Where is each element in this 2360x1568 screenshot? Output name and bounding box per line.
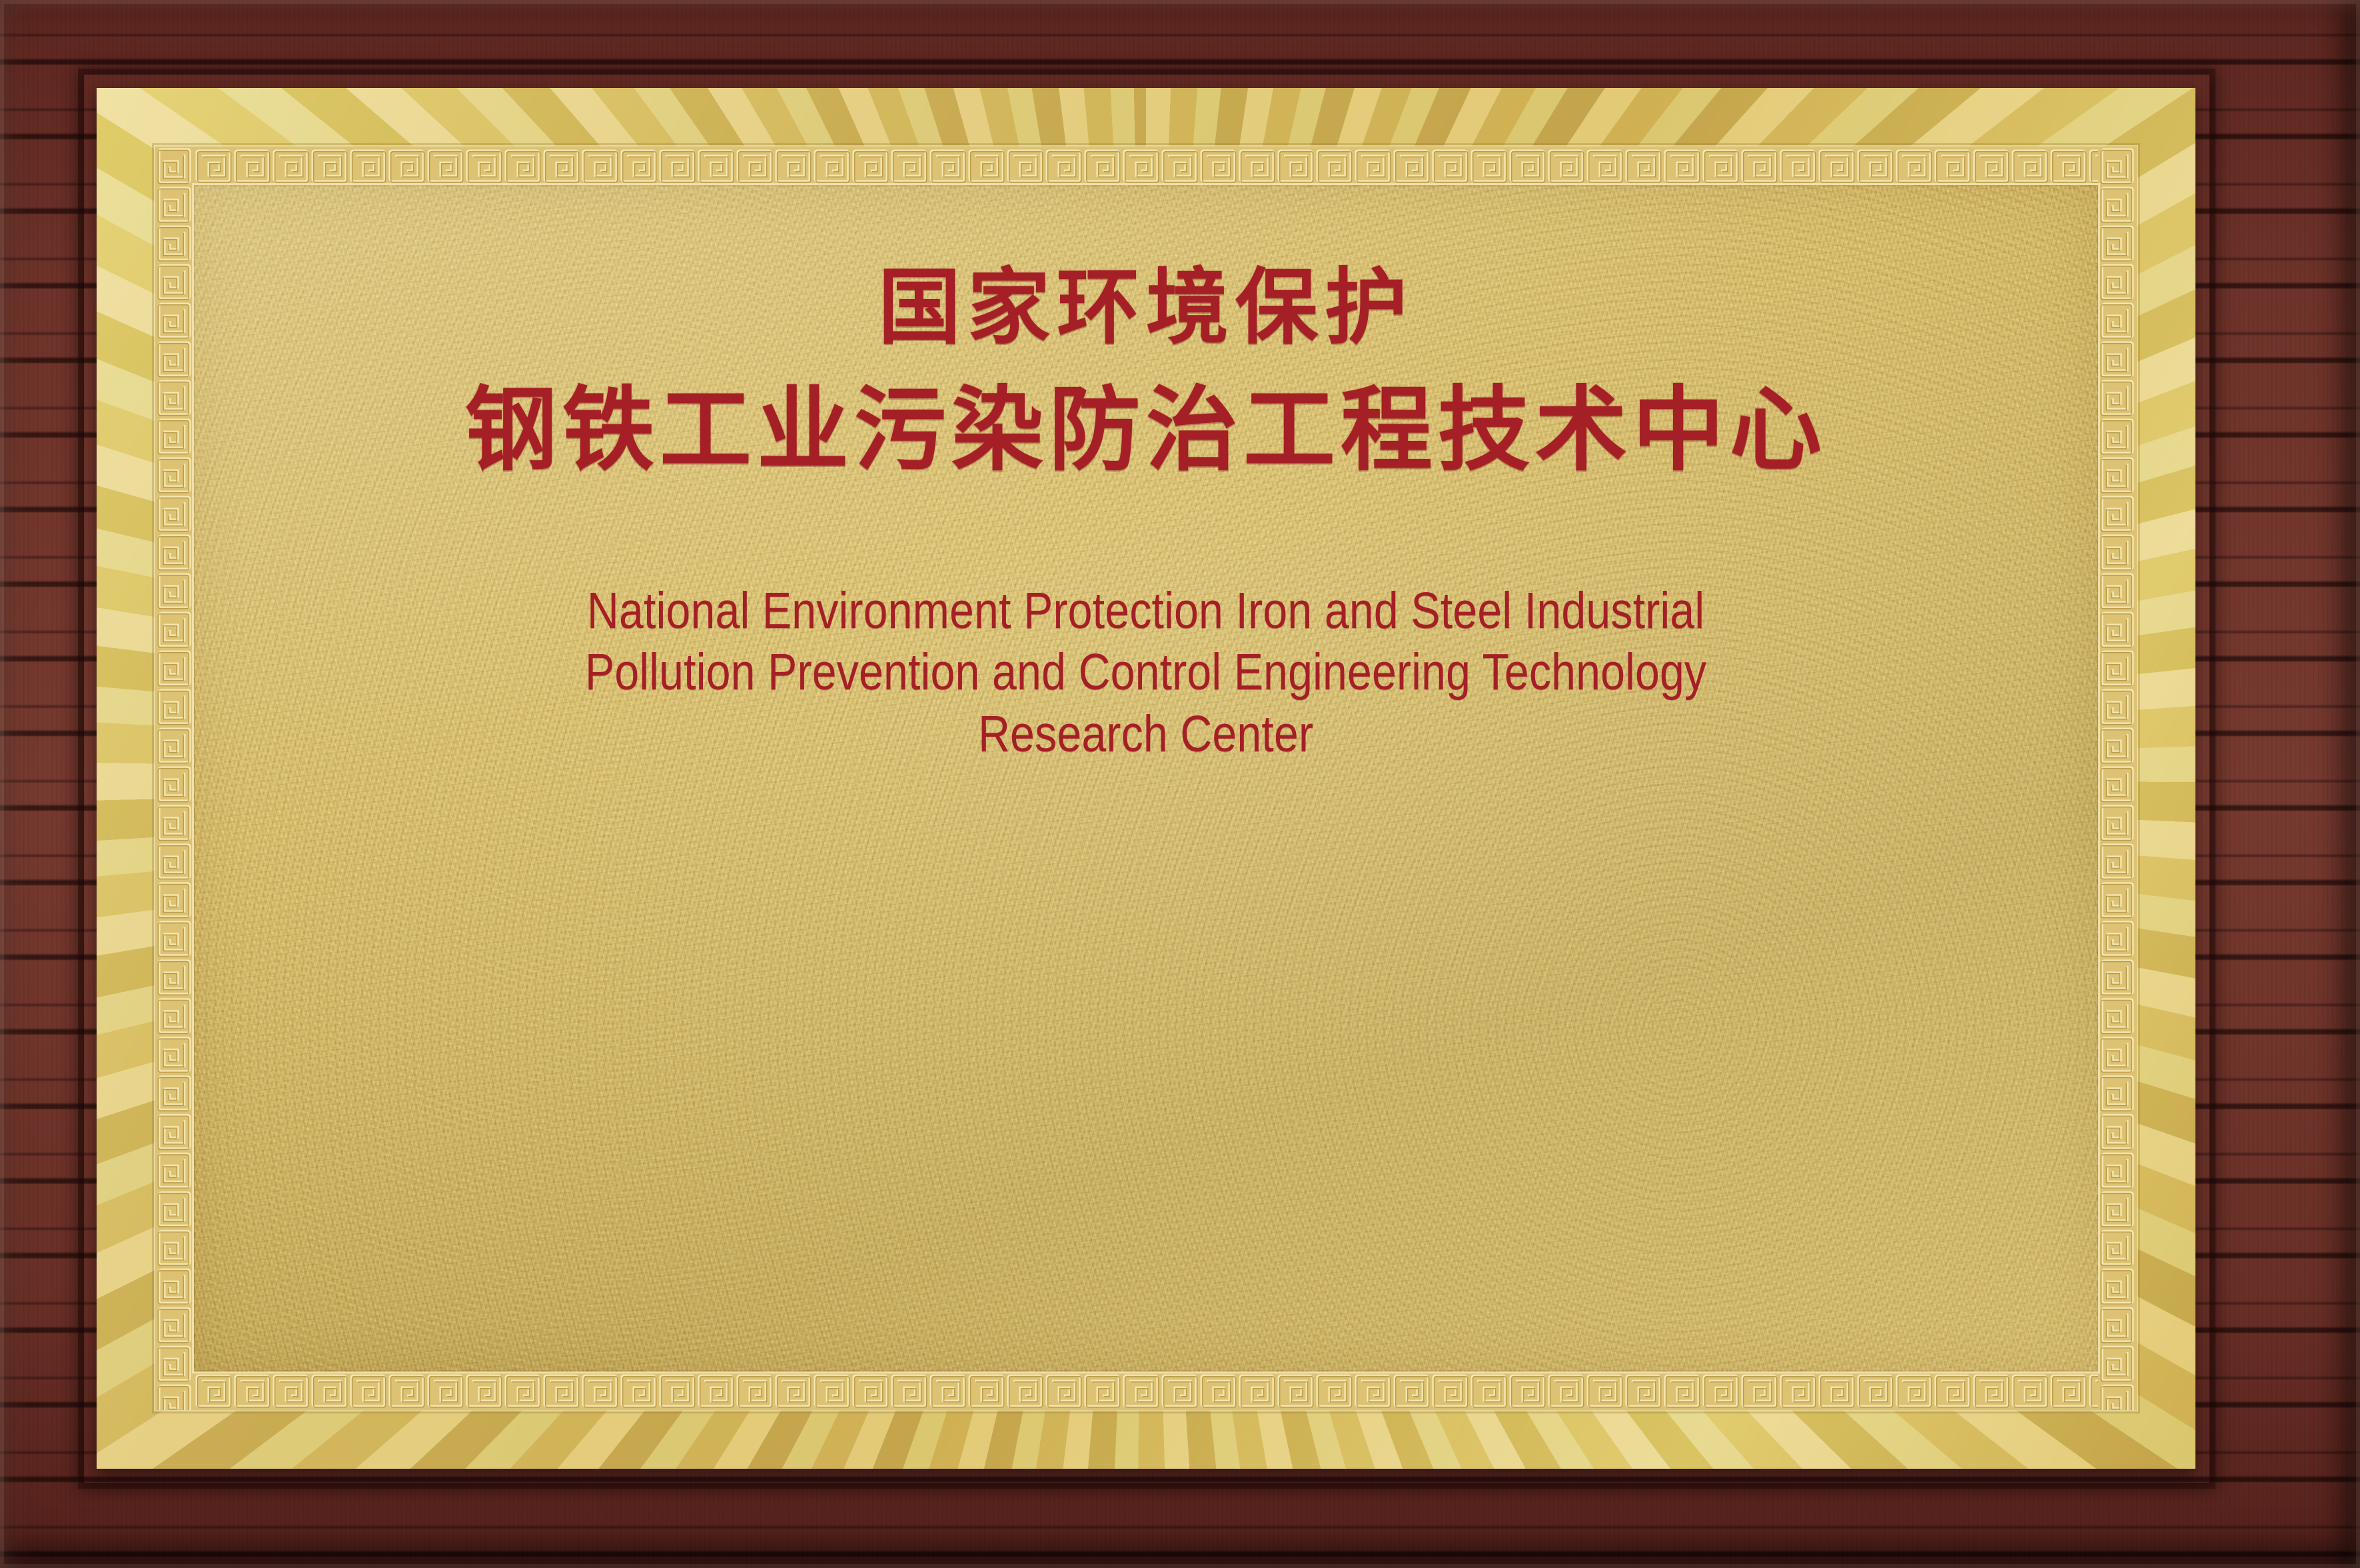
english-title-line-2: Pollution Prevention and Control Enginee… [585, 641, 1706, 703]
chinese-title-line-2: 钢铁工业污染防治工程技术中心 [465, 381, 1827, 480]
chinese-title-line-1: 国家环境保护 [878, 264, 1414, 353]
greek-key-strip-bottom [155, 1372, 2137, 1410]
greek-key-strip-right [2098, 147, 2137, 1410]
english-title-line-3: Research Center [585, 703, 1706, 765]
plaque-text-block: 国家环境保护 钢铁工业污染防治工程技术中心 National Environme… [194, 185, 2098, 1372]
inner-gold-field: 国家环境保护 钢铁工业污染防治工程技术中心 National Environme… [194, 185, 2098, 1372]
gold-plate: 国家环境保护 钢铁工业污染防治工程技术中心 National Environme… [97, 88, 2195, 1469]
english-title-line-1: National Environment Protection Iron and… [585, 580, 1706, 641]
greek-key-strip-left [155, 147, 194, 1410]
plaque-stage: 国家环境保护 钢铁工业污染防治工程技术中心 National Environme… [0, 0, 2360, 1568]
english-title-block: National Environment Protection Iron and… [585, 580, 1706, 765]
greek-key-strip-top [155, 147, 2137, 185]
